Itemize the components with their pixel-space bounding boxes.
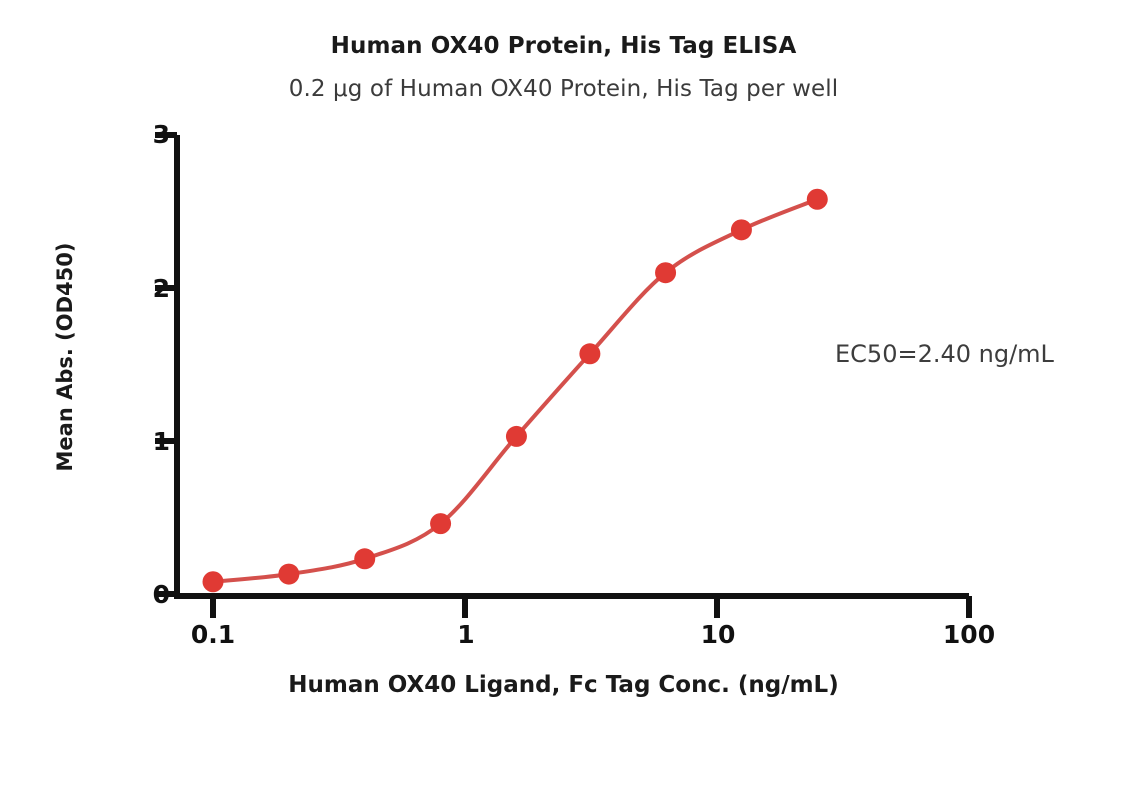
- data-point-3: [430, 513, 451, 534]
- elisa-chart-figure: Human OX40 Protein, His Tag ELISA 0.2 μg…: [0, 0, 1127, 786]
- data-point-5: [579, 343, 600, 364]
- plot-area: [0, 0, 1127, 786]
- data-point-2: [354, 548, 375, 569]
- axes-lines: [174, 135, 969, 597]
- data-point-6: [655, 262, 676, 283]
- fit-curve: [213, 199, 817, 582]
- x-axis-ticks: [213, 596, 969, 618]
- data-point-7: [731, 219, 752, 240]
- y-axis-ticks: [155, 135, 177, 594]
- data-point-8: [807, 189, 828, 210]
- data-point-1: [278, 564, 299, 585]
- data-point-4: [506, 426, 527, 447]
- data-points: [203, 189, 828, 593]
- data-point-0: [203, 571, 224, 592]
